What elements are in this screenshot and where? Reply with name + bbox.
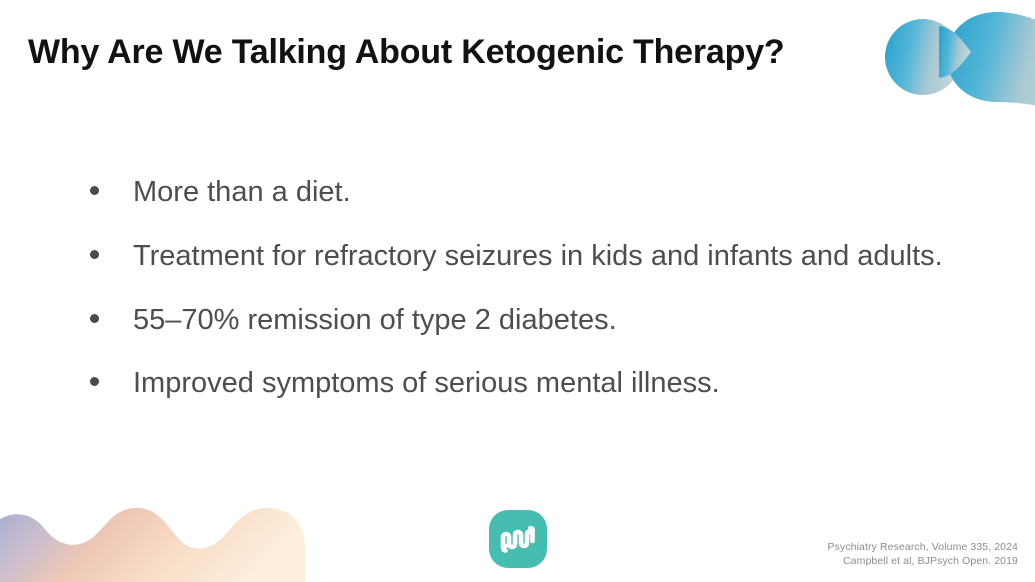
list-item: More than a diet. <box>90 172 990 214</box>
bullet-marker-icon <box>90 377 99 386</box>
wave-blob-decoration <box>0 494 322 582</box>
bullet-marker-icon <box>90 314 99 323</box>
slide-canvas: Why Are We Talking About Ketogenic Thera… <box>0 0 1035 582</box>
list-item: 55–70% remission of type 2 diabetes. <box>90 300 990 342</box>
citation-block: Psychiatry Research, Volume 335, 2024 Ca… <box>828 541 1018 568</box>
citation-line: Campbell et al, BJPsych Open. 2019 <box>828 555 1018 568</box>
slide-title: Why Are We Talking About Ketogenic Thera… <box>28 33 784 72</box>
list-item-label: 55–70% remission of type 2 diabetes. <box>133 300 617 342</box>
bullet-list: More than a diet. Treatment for refracto… <box>90 172 990 427</box>
list-item-label: Improved symptoms of serious mental illn… <box>133 363 720 405</box>
bullet-marker-icon <box>90 186 99 195</box>
citation-line: Psychiatry Research, Volume 335, 2024 <box>828 541 1018 554</box>
metaball-blob-decoration <box>835 0 1035 116</box>
coil-logo-icon <box>489 510 547 568</box>
bullet-marker-icon <box>90 250 99 259</box>
list-item-label: More than a diet. <box>133 172 351 214</box>
list-item: Improved symptoms of serious mental illn… <box>90 363 990 405</box>
list-item-label: Treatment for refractory seizures in kid… <box>133 236 943 278</box>
list-item: Treatment for refractory seizures in kid… <box>90 236 990 278</box>
